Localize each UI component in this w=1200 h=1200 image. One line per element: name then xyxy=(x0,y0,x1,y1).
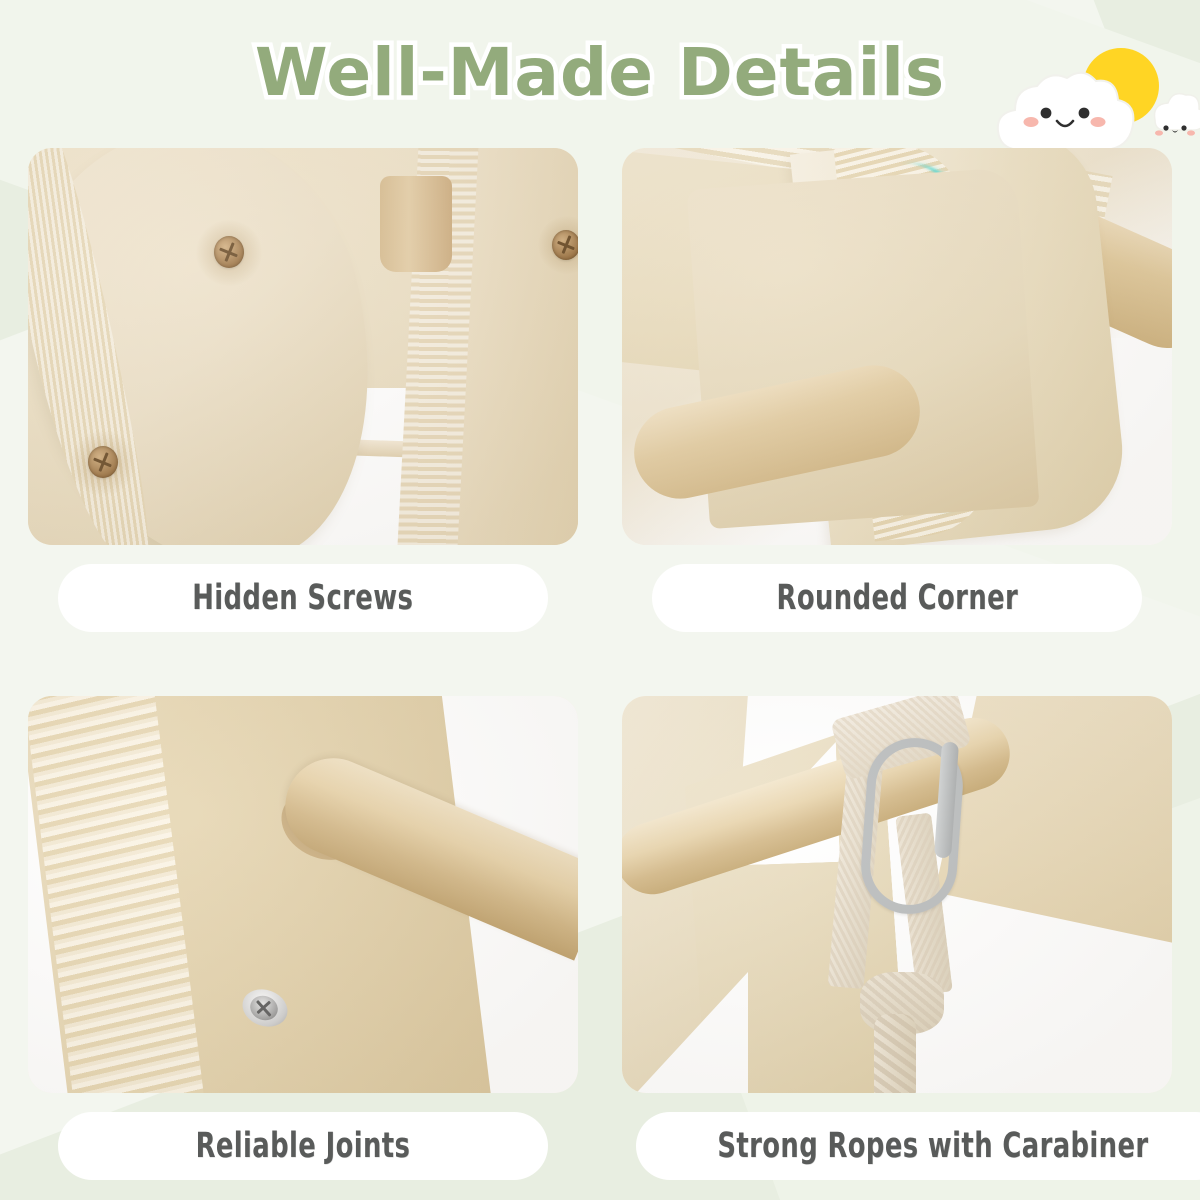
infographic-stage: Well-Made Details xyxy=(0,0,1200,1200)
label-pill-rounded-corner: Rounded Corner xyxy=(652,564,1142,632)
dowel-end xyxy=(380,176,452,272)
label-pill-reliable-joints: Reliable Joints xyxy=(58,1112,548,1180)
photo-hidden-screws xyxy=(28,148,578,545)
label-text: Hidden Screws xyxy=(192,578,413,618)
photo-rounded-corner xyxy=(622,148,1172,545)
cloud-sun-decoration xyxy=(988,38,1200,156)
small-cloud-face-icon xyxy=(1155,94,1200,136)
label-text: Strong Ropes with Carabiner xyxy=(717,1126,1148,1166)
rope-tail xyxy=(874,1014,916,1093)
label-pill-hidden-screws: Hidden Screws xyxy=(58,564,548,632)
label-text: Rounded Corner xyxy=(776,578,1018,618)
cloud-sun-svg xyxy=(988,38,1200,156)
photo-strong-ropes-carabiner xyxy=(622,696,1172,1093)
detail-card-rounded-corner: Rounded Corner xyxy=(622,148,1172,632)
details-grid: Hidden Screws xyxy=(28,148,1172,1180)
label-pill-strong-ropes: Strong Ropes with Carabiner xyxy=(636,1112,1200,1180)
detail-card-hidden-screws: Hidden Screws xyxy=(28,148,578,632)
hidden-screw-3 xyxy=(552,230,578,260)
header: Well-Made Details xyxy=(0,0,1200,150)
hidden-screw-2 xyxy=(88,446,118,478)
photo-reliable-joints xyxy=(28,696,578,1093)
hidden-screw-1 xyxy=(214,236,244,268)
label-text: Reliable Joints xyxy=(196,1126,411,1166)
detail-card-reliable-joints: Reliable Joints xyxy=(28,696,578,1180)
detail-card-strong-ropes: Strong Ropes with Carabiner xyxy=(622,696,1172,1180)
